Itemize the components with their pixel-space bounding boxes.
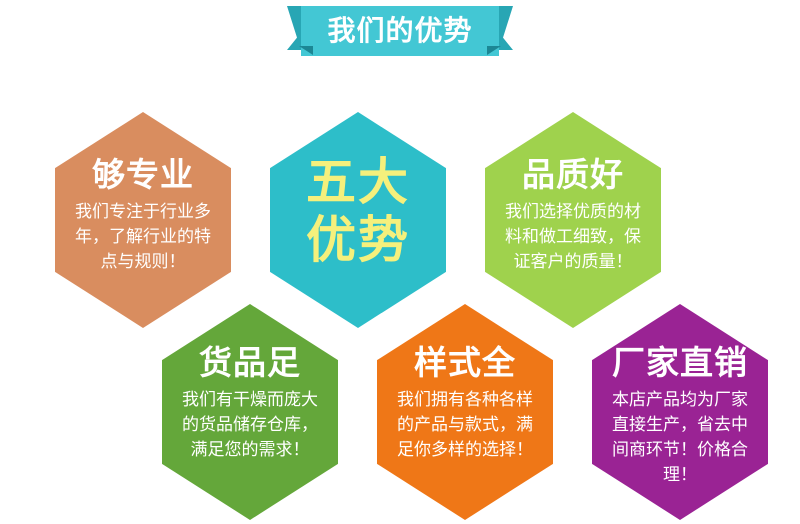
advantage-title: 品质好 <box>522 158 624 193</box>
advantage-description: 我们拥有各种各样的产品与款式，满足你多样的选择！ <box>391 388 539 463</box>
advantage-hexagon-huo-pin-zu[interactable]: 货品足 我们有干燥而庞大的货品储存仓库，满足您的需求！ <box>162 304 338 520</box>
advantage-hexagon-pin-zhi-hao[interactable]: 品质好 我们选择优质的材料和做工细致，保证客户的质量！ <box>485 112 661 328</box>
advantages-infographic: 我们的优势 够专业 我们专注于行业多年，了解行业的特点与规则！ 五大 优势 品质… <box>0 0 800 524</box>
advantage-description: 我们有干燥而庞大的货品储存仓库，满足您的需求！ <box>176 388 324 463</box>
advantage-description: 我们专注于行业多年，了解行业的特点与规则！ <box>69 200 217 275</box>
banner-body: 我们的优势 <box>301 6 499 56</box>
advantage-hexagon-gou-zhuan-ye[interactable]: 够专业 我们专注于行业多年，了解行业的特点与规则！ <box>55 112 231 328</box>
advantage-hexagon-chang-jia-zhi-xiao[interactable]: 厂家直销 本店产品均为厂家直接生产，省去中间商环节！价格合理！ <box>592 304 768 520</box>
advantage-hexagon-yang-shi-quan[interactable]: 样式全 我们拥有各种各样的产品与款式，满足你多样的选择！ <box>377 304 553 520</box>
advantage-title: 厂家直销 <box>612 346 748 381</box>
page-title: 我们的优势 <box>327 17 472 45</box>
advantage-title: 货品足 <box>199 346 301 381</box>
center-feature-title-line1: 五大 <box>306 154 410 212</box>
advantage-title: 够专业 <box>92 158 194 193</box>
advantage-title: 样式全 <box>414 346 516 381</box>
center-feature-title-line2: 优势 <box>306 212 410 270</box>
advantage-hexagon-wu-da-you-shi[interactable]: 五大 优势 <box>270 112 446 328</box>
banner-ribbon: 我们的优势 <box>287 6 513 56</box>
center-feature-title: 五大 优势 <box>306 154 410 269</box>
advantage-description: 我们选择优质的材料和做工细致，保证客户的质量！ <box>499 200 647 275</box>
advantage-description: 本店产品均为厂家直接生产，省去中间商环节！价格合理！ <box>606 388 754 489</box>
